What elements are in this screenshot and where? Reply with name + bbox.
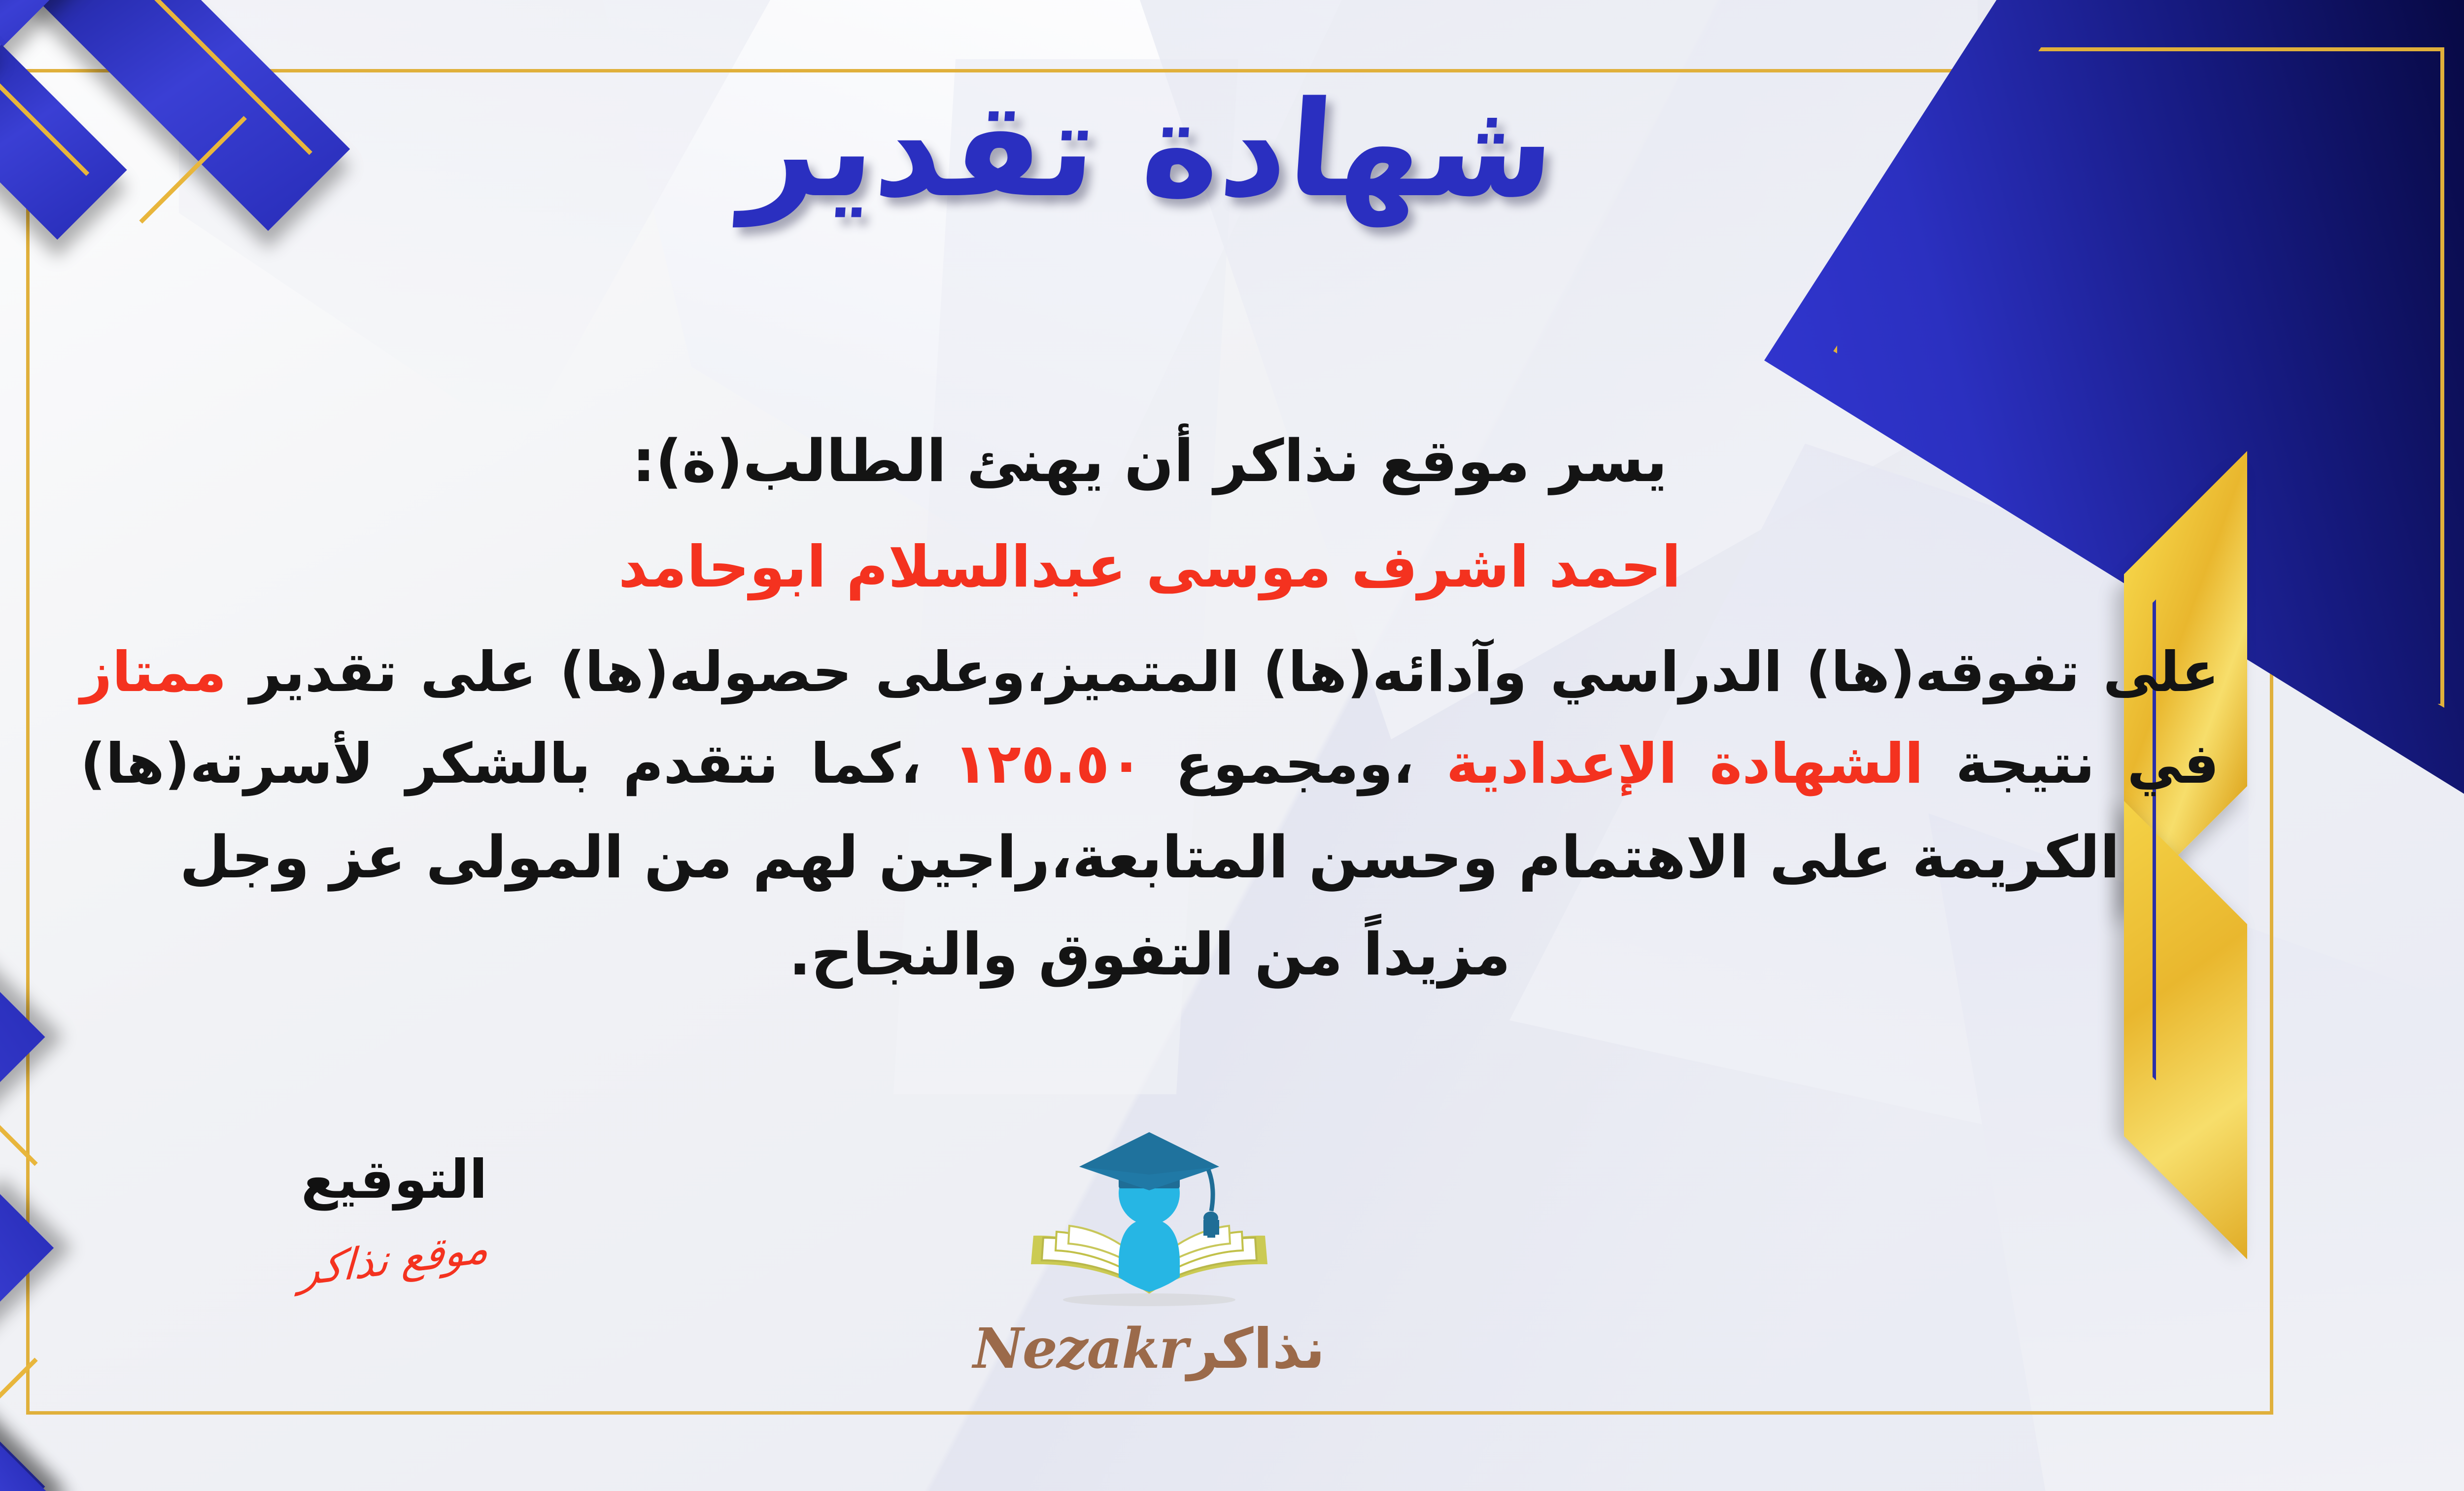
signature-label: التوقيع [237, 1151, 552, 1210]
certificate-title-area: شهادة تقدير [0, 74, 2464, 281]
family-line: الكريمة على الاهتمام وحسن المتابعة،راجين… [66, 810, 2234, 904]
intro-line: يسر موقع نذاكر أن يهنئ الطالب(ة): [66, 414, 2234, 508]
result-prefix: في نتيجة [1956, 732, 2219, 796]
total-score: ١٢٥.٥٠ [954, 732, 1143, 796]
exam-name: الشهادة الإعدادية [1446, 732, 1923, 796]
total-label: ،ومجموع [1175, 732, 1414, 796]
logo-latin: Nezakr [973, 1317, 1187, 1381]
praise-text: على تفوقه(ها) الدراسي وآدائه(ها) المتميز… [250, 640, 2219, 704]
wish-line: مزيداً من التفوق والنجاح. [66, 907, 2234, 1002]
site-logo: نذاكرNezakr [903, 1121, 1396, 1381]
certificate-title: شهادة تقدير [738, 74, 1560, 226]
result-line: في نتيجة الشهادة الإعدادية ،ومجموع ١٢٥.٥… [80, 719, 2219, 810]
certificate-footer: التوقيع موقع نذاكر [0, 1121, 2464, 1397]
logo-arabic: نذاكر [1187, 1317, 1325, 1381]
thanks-text: ،كما نتقدم بالشكر لأسرته(ها) [80, 732, 922, 796]
signature-script: موقع نذاكر [299, 1224, 490, 1295]
graduate-book-logo-icon [996, 1121, 1302, 1314]
signature-block: التوقيع موقع نذاكر [237, 1151, 552, 1283]
certificate-body: يسر موقع نذاكر أن يهنئ الطالب(ة): احمد ا… [66, 414, 2234, 1005]
praise-line: على تفوقه(ها) الدراسي وآدائه(ها) المتميز… [80, 627, 2219, 719]
student-name: احمد اشرف موسى عبدالسلام ابوحامد [66, 534, 2234, 600]
certificate-canvas: شهادة تقدير يسر موقع نذاكر أن يهنئ الطال… [0, 0, 2464, 1491]
grade-value: ممتاز [80, 640, 227, 704]
logo-wordmark: نذاكرNezakr [903, 1317, 1396, 1381]
